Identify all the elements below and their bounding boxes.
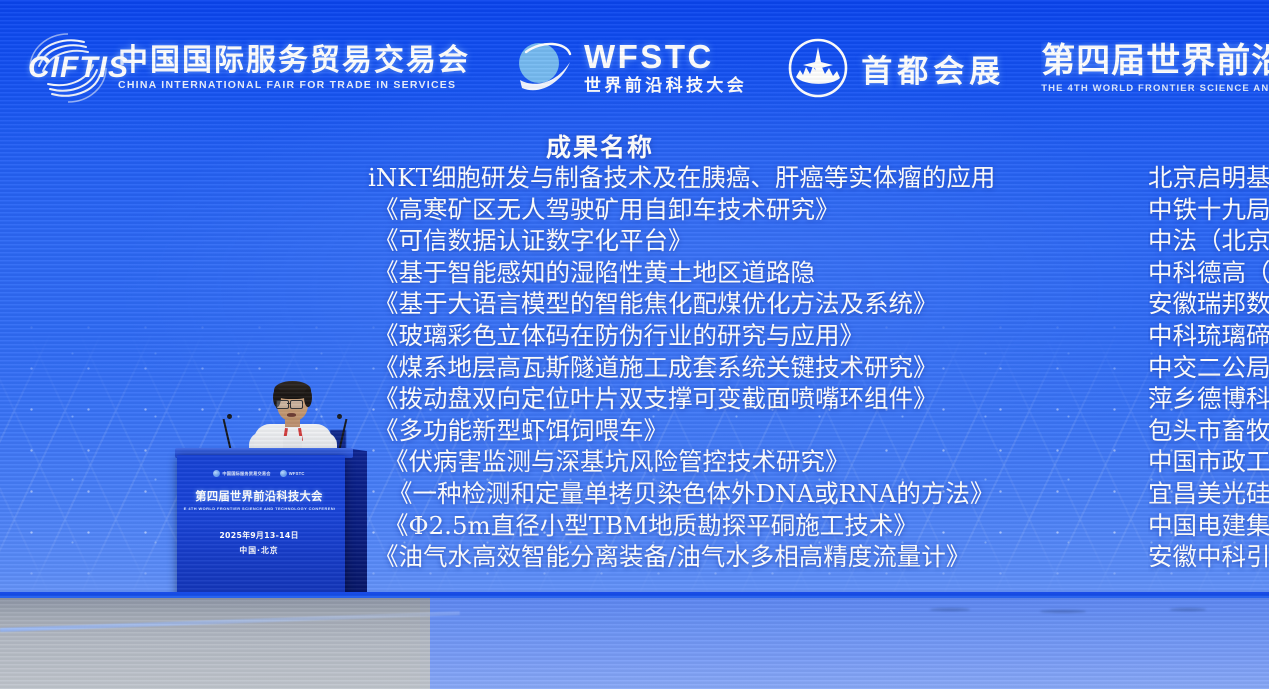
podium: 中国国际服务贸易交易会 WFSTC 第四届世界前沿科技大会 THE 4TH WO… bbox=[175, 368, 375, 600]
podium-date: 2025年9月13-14日 bbox=[219, 530, 298, 541]
conference-stage-photo: CIFTIS 中国国际服务贸易交易会 CHINA INTERNATIONAL F… bbox=[0, 0, 1269, 689]
sponsor-logo-row: CIFTIS 中国国际服务贸易交易会 CHINA INTERNATIONAL F… bbox=[0, 22, 1269, 114]
podium-title-en: THE 4TH WORLD FRONTIER SCIENCE AND TECHN… bbox=[183, 506, 335, 511]
podium-wfstc-icon bbox=[280, 470, 287, 477]
conference-title-cn: 第四届世界前沿科技大会 bbox=[1041, 42, 1269, 80]
logo-shoudu-huizhan: 首都会展 bbox=[787, 37, 1005, 99]
podium-ciftis-label: 中国国际服务贸易交易会 bbox=[222, 471, 270, 477]
floor-mark bbox=[1170, 608, 1206, 611]
floor-mark bbox=[1040, 610, 1086, 613]
ciftis-wordmark: CIFTIS bbox=[28, 53, 110, 83]
conference-title-header: 第四届世界前沿科技大会 THE 4TH WORLD FRONTIER SCIEN… bbox=[1041, 42, 1269, 95]
ciftis-chinese-name: 中国国际服务贸易交易会 bbox=[118, 44, 470, 78]
star-skyline-circle-icon-svg bbox=[787, 37, 849, 99]
planet-ring-icon-svg bbox=[512, 36, 576, 100]
wfstc-text-block: WFSTC 世界前沿科技大会 bbox=[584, 39, 747, 97]
podium-logo-ciftis: 中国国际服务贸易交易会 bbox=[213, 470, 270, 477]
ciftis-text-block: 中国国际服务贸易交易会 CHINA INTERNATIONAL FAIR FOR… bbox=[118, 44, 470, 92]
star-skyline-circle-icon bbox=[787, 37, 849, 99]
planet-ring-icon bbox=[512, 36, 576, 100]
logo-wfstc: WFSTC 世界前沿科技大会 bbox=[512, 36, 747, 100]
podium-side-panel bbox=[345, 448, 367, 603]
ciftis-swoosh-icon: CIFTIS bbox=[22, 31, 114, 105]
wfstc-wordmark: WFSTC bbox=[584, 39, 747, 74]
shoudu-huizhan-name: 首都会展 bbox=[861, 46, 1005, 91]
podium-city: 中国·北京 bbox=[239, 545, 278, 556]
podium-signage: 中国国际服务贸易交易会 WFSTC 第四届世界前沿科技大会 THE 4TH WO… bbox=[183, 464, 335, 576]
conference-title-en: THE 4TH WORLD FRONTIER SCIENCE AND TECHN… bbox=[1041, 82, 1269, 95]
wfstc-chinese-name: 世界前沿科技大会 bbox=[584, 75, 747, 97]
stage-floor-lit-area bbox=[430, 598, 1269, 689]
podium-logo-strip: 中国国际服务贸易交易会 WFSTC bbox=[213, 470, 304, 477]
logo-ciftis: CIFTIS 中国国际服务贸易交易会 CHINA INTERNATIONAL F… bbox=[22, 31, 470, 105]
ciftis-english-name: CHINA INTERNATIONAL FAIR FOR TRADE IN SE… bbox=[118, 79, 470, 92]
podium-wfstc-label: WFSTC bbox=[289, 471, 305, 476]
podium-logo-wfstc: WFSTC bbox=[280, 470, 305, 477]
podium-ciftis-icon bbox=[213, 470, 220, 477]
floor-mark bbox=[930, 608, 970, 611]
podium-title-cn: 第四届世界前沿科技大会 bbox=[195, 488, 322, 504]
